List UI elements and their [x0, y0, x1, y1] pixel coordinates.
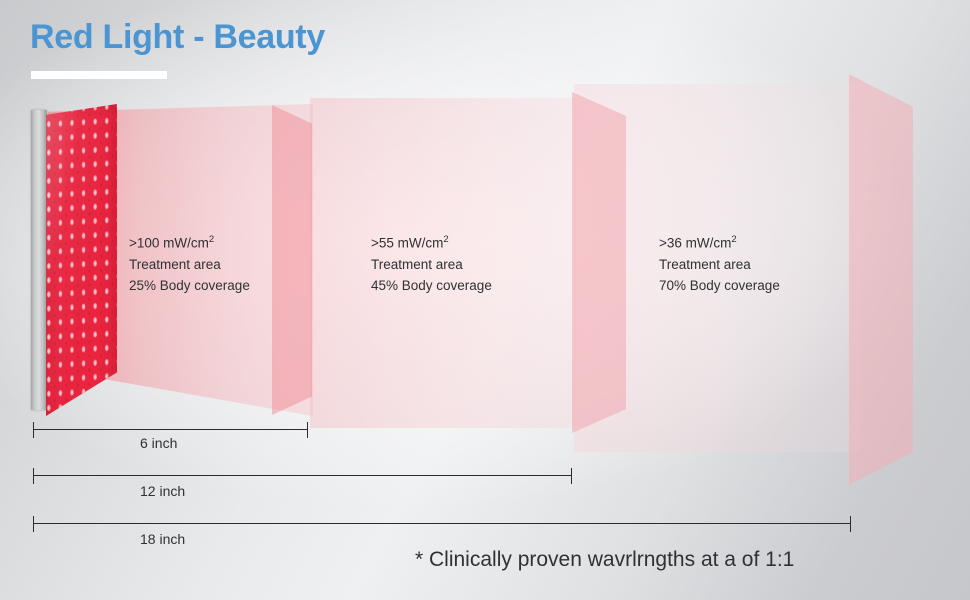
zone-label-2: >55 mW/cm2 Treatment area 45% Body cover… [371, 229, 492, 296]
zone-3-irradiance-value: >36 mW/cm [659, 236, 731, 251]
footnote-text: * Clinically proven wavrlrngths at a of … [415, 548, 794, 572]
zone-1-irradiance-exponent: 2 [209, 234, 214, 245]
title-underline-bar [31, 71, 167, 79]
zone-1-irradiance-value: >100 mW/cm [129, 236, 209, 251]
ruler-6-right-cap [307, 422, 308, 438]
led-panel-sheen [46, 104, 117, 416]
ruler-6-bar [33, 429, 308, 430]
distance-ruler-12-inch [33, 468, 572, 484]
led-panel-device [31, 104, 117, 416]
zone-label-3: >36 mW/cm2 Treatment area 70% Body cover… [659, 229, 780, 296]
ruler-6-label: 6 inch [140, 435, 177, 451]
zone-2-irradiance: >55 mW/cm2 [371, 229, 492, 254]
ruler-18-label: 18 inch [140, 531, 185, 547]
light-plane-12-inch [572, 92, 626, 433]
zone-1-treatment-area: Treatment area [129, 254, 250, 275]
page-title: Red Light - Beauty [30, 18, 325, 57]
zone-3-body-coverage: 70% Body coverage [659, 275, 780, 296]
ruler-18-right-cap [850, 516, 851, 532]
ruler-12-bar [33, 475, 572, 476]
light-plane-6-inch [272, 105, 312, 415]
ruler-12-right-cap [571, 468, 572, 484]
zone-label-1: >100 mW/cm2 Treatment area 25% Body cove… [129, 229, 250, 296]
zone-2-irradiance-value: >55 mW/cm [371, 236, 443, 251]
led-panel-frame [31, 110, 47, 410]
zone-2-body-coverage: 45% Body coverage [371, 275, 492, 296]
zone-3-irradiance-exponent: 2 [731, 234, 736, 245]
ruler-12-label: 12 inch [140, 483, 185, 499]
distance-ruler-18-inch [33, 516, 851, 532]
red-light-infographic: Red Light - Beauty >100 mW/cm2 Treatment… [0, 0, 970, 600]
ruler-18-bar [33, 523, 851, 524]
zone-1-irradiance: >100 mW/cm2 [129, 229, 250, 254]
zone-3-irradiance: >36 mW/cm2 [659, 229, 780, 254]
zone-3-treatment-area: Treatment area [659, 254, 780, 275]
light-plane-18-inch [849, 74, 913, 485]
zone-1-body-coverage: 25% Body coverage [129, 275, 250, 296]
zone-2-irradiance-exponent: 2 [443, 234, 448, 245]
zone-2-treatment-area: Treatment area [371, 254, 492, 275]
